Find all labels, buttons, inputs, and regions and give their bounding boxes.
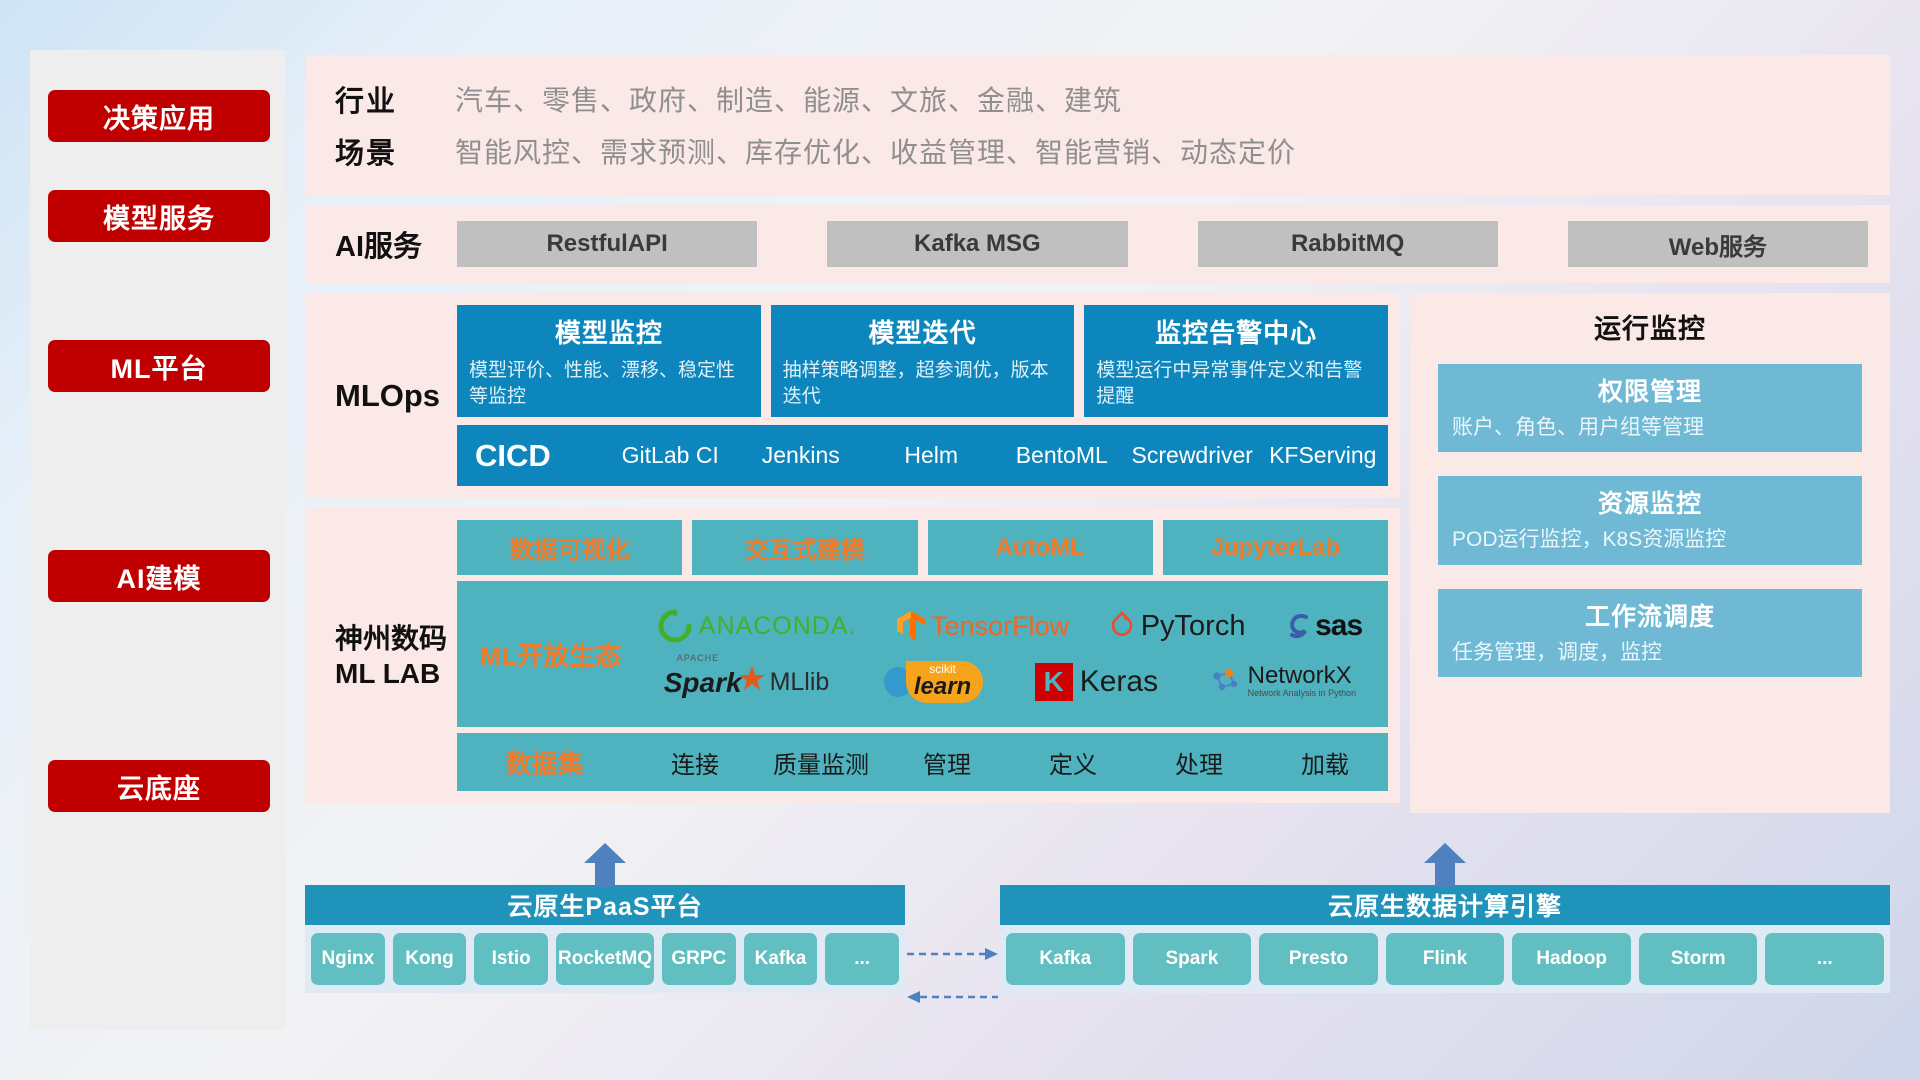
service-chip-web-service[interactable]: Web服务 <box>1568 221 1868 267</box>
keras-wordmark: Keras <box>1080 665 1158 699</box>
anaconda-icon <box>658 609 692 643</box>
cloud-paas-title: 云原生PaaS平台 <box>305 885 905 925</box>
runtime-monitor-title: 运行监控 <box>1438 307 1862 346</box>
cloud-data-engine-chip-list: Kafka Spark Presto Flink Hadoop Storm ..… <box>1000 925 1890 993</box>
mlops-card-list: 模型监控 模型评价、性能、漂移、稳定性等监控 模型迭代 抽样策略调整，超参调优，… <box>457 305 1388 417</box>
layer-chip-label: 模型服务 <box>103 197 215 236</box>
anaconda-wordmark: ANACONDA. <box>699 612 857 641</box>
mllib-wordmark: MLlib <box>770 668 830 697</box>
tensorflow-icon <box>896 609 926 643</box>
layer-rail: 决策应用 模型服务 ML平台 AI建模 云底座 <box>30 50 285 1030</box>
layer-chip-label: 决策应用 <box>103 97 215 136</box>
dataset-item-manage[interactable]: 管理 <box>884 745 1010 780</box>
cloud-chip-more[interactable]: ... <box>825 933 899 985</box>
anaconda-logo[interactable]: ANACONDA. <box>658 609 857 643</box>
mlops-content: 模型监控 模型评价、性能、漂移、稳定性等监控 模型迭代 抽样策略调整，超参调优，… <box>457 305 1388 486</box>
monitor-card-desc: 任务管理，调度，监控 <box>1452 639 1848 667</box>
monitor-card-title: 资源监控 <box>1452 484 1848 520</box>
monitor-card-title: 权限管理 <box>1452 372 1848 408</box>
mlops-card-model-monitoring[interactable]: 模型监控 模型评价、性能、漂移、稳定性等监控 <box>457 305 761 417</box>
cloud-chip-istio[interactable]: Istio <box>474 933 548 985</box>
engine-chip-more[interactable]: ... <box>1765 933 1884 985</box>
pytorch-logo[interactable]: PyTorch <box>1109 610 1246 643</box>
sas-logo[interactable]: sas <box>1285 609 1362 643</box>
mlops-card-desc: 模型运行中异常事件定义和告警提醒 <box>1096 358 1376 409</box>
arrow-left-dashed-icon <box>905 990 1000 1004</box>
ml-lab-label: 神州数码 ML LAB <box>335 520 457 791</box>
layer-chip-ml-platform[interactable]: ML平台 <box>48 340 270 392</box>
dataset-item-quality-monitor[interactable]: 质量监测 <box>758 745 884 780</box>
cicd-item-screwdriver[interactable]: Screwdriver <box>1127 444 1258 467</box>
platform-column: MLOps 模型监控 模型评价、性能、漂移、稳定性等监控 模型迭代 抽样策略调整… <box>305 293 1400 813</box>
layer-chip-cloud-base[interactable]: 云底座 <box>48 760 270 812</box>
mlops-label: MLOps <box>335 305 457 486</box>
pytorch-icon <box>1109 610 1135 642</box>
layer-chip-label: ML平台 <box>111 347 208 386</box>
cloud-chip-rocketmq[interactable]: RocketMQ <box>556 933 654 985</box>
mlops-card-title: 监控告警中心 <box>1096 313 1376 350</box>
cicd-item-jenkins[interactable]: Jenkins <box>736 444 867 467</box>
monitor-card-permission[interactable]: 权限管理 账户、角色、用户组等管理 <box>1438 364 1862 452</box>
cicd-item-gitlab-ci[interactable]: GitLab CI <box>605 444 736 467</box>
lab-tool-jupyterlab[interactable]: JupyterLab <box>1163 520 1388 575</box>
cloud-data-engine-title: 云原生数据计算引擎 <box>1000 885 1890 925</box>
ml-lab-content: 数据可视化 交互式建模 AutoML JupyterLab ML开放生态 <box>457 520 1388 791</box>
dataset-item-connect[interactable]: 连接 <box>632 745 758 780</box>
networkx-logo[interactable]: NetworkX Network Analysis in Python <box>1210 664 1357 700</box>
ai-service-band: AI服务 RestfulAPI Kafka MSG RabbitMQ Web服务 <box>305 205 1890 283</box>
cicd-item-list: GitLab CI Jenkins Helm BentoML Screwdriv… <box>605 444 1388 467</box>
ai-service-list: RestfulAPI Kafka MSG RabbitMQ Web服务 <box>457 221 1890 267</box>
sas-wordmark: sas <box>1315 609 1362 643</box>
cloud-chip-nginx[interactable]: Nginx <box>311 933 385 985</box>
industry-row: 行业 汽车、零售、政府、制造、能源、文旅、金融、建筑 <box>335 73 1890 125</box>
keras-k-glyph: K <box>1044 666 1064 698</box>
industry-value: 汽车、零售、政府、制造、能源、文旅、金融、建筑 <box>455 79 1122 119</box>
dataset-item-list: 连接 质量监测 管理 定义 处理 加载 <box>632 745 1388 780</box>
engine-chip-storm[interactable]: Storm <box>1639 933 1758 985</box>
scikit-learn-logo[interactable]: scikit learn <box>881 661 983 703</box>
layer-chip-label: AI建模 <box>117 557 202 596</box>
ml-lab-band: 神州数码 ML LAB 数据可视化 交互式建模 AutoML JupyterLa… <box>305 508 1400 803</box>
mlops-card-title: 模型迭代 <box>783 313 1063 350</box>
cloud-paas-chip-list: Nginx Kong Istio RocketMQ GRPC Kafka ... <box>305 925 905 993</box>
ml-lab-label-line1: 神州数码 <box>335 621 457 656</box>
ecosystem-logo-grid: ANACONDA. TensorFlow <box>638 600 1382 708</box>
keras-logo[interactable]: K Keras <box>1035 663 1158 701</box>
mlops-card-alert-center[interactable]: 监控告警中心 模型运行中异常事件定义和告警提醒 <box>1084 305 1388 417</box>
industry-key: 行业 <box>335 78 455 120</box>
platform-and-monitor-wrap: MLOps 模型监控 模型评价、性能、漂移、稳定性等监控 模型迭代 抽样策略调整… <box>305 293 1890 813</box>
mlops-card-desc: 抽样策略调整，超参调优，版本迭代 <box>783 358 1063 409</box>
cicd-item-helm[interactable]: Helm <box>866 444 997 467</box>
cicd-title: CICD <box>475 438 605 474</box>
dataset-item-load[interactable]: 加载 <box>1262 745 1388 780</box>
dataset-row: 数据集 连接 质量监测 管理 定义 处理 加载 <box>457 733 1388 791</box>
decision-apps-band: 行业 汽车、零售、政府、制造、能源、文旅、金融、建筑 场景 智能风控、需求预测、… <box>305 55 1890 195</box>
data-engine-up-arrow-icon <box>1422 843 1468 887</box>
monitor-card-resource[interactable]: 资源监控 POD运行监控，K8S资源监控 <box>1438 476 1862 564</box>
dataset-item-define[interactable]: 定义 <box>1010 745 1136 780</box>
ecosystem-logo-row-1: ANACONDA. TensorFlow <box>638 600 1382 652</box>
ml-open-ecosystem: ML开放生态 ANACONDA. <box>457 581 1388 727</box>
tensorflow-logo[interactable]: TensorFlow <box>896 609 1069 643</box>
runtime-monitor-sidebar: 运行监控 权限管理 账户、角色、用户组等管理 资源监控 POD运行监控，K8S资… <box>1410 293 1890 813</box>
paas-up-arrow-icon <box>582 843 628 887</box>
spark-star-icon <box>738 665 766 693</box>
spark-wordmark: Spark <box>664 667 742 699</box>
mlops-card-desc: 模型评价、性能、漂移、稳定性等监控 <box>469 358 749 409</box>
layer-chip-decision[interactable]: 决策应用 <box>48 90 270 142</box>
cloud-data-engine-column: 云原生数据计算引擎 Kafka Spark Presto Flink Hadoo… <box>1000 885 1890 1030</box>
monitor-card-desc: 账户、角色、用户组等管理 <box>1452 414 1848 442</box>
monitor-card-workflow[interactable]: 工作流调度 任务管理，调度，监控 <box>1438 589 1862 677</box>
scenario-row: 场景 智能风控、需求预测、库存优化、收益管理、智能营销、动态定价 <box>335 125 1890 177</box>
layer-chip-ai-modeling[interactable]: AI建模 <box>48 550 270 602</box>
architecture-main: 行业 汽车、零售、政府、制造、能源、文旅、金融、建筑 场景 智能风控、需求预测、… <box>305 55 1890 813</box>
sas-icon <box>1285 610 1313 642</box>
engine-chip-kafka[interactable]: Kafka <box>1006 933 1125 985</box>
tensorflow-wordmark: TensorFlow <box>931 611 1069 642</box>
networkx-wordmark: NetworkX <box>1248 664 1357 688</box>
scenario-key: 场景 <box>335 130 455 172</box>
service-chip-restfulapi[interactable]: RestfulAPI <box>457 221 757 267</box>
cicd-item-bentoml[interactable]: BentoML <box>997 444 1128 467</box>
engine-chip-presto[interactable]: Presto <box>1259 933 1378 985</box>
arrow-right-dashed-icon <box>905 947 1000 961</box>
spark-apache-label: APACHE <box>677 653 719 663</box>
ecosystem-logo-row-2: APACHE Spark MLlib <box>638 656 1382 708</box>
cicd-bar: CICD GitLab CI Jenkins Helm BentoML Scre… <box>457 425 1388 486</box>
dataset-item-process[interactable]: 处理 <box>1136 745 1262 780</box>
cloud-chip-grpc[interactable]: GRPC <box>662 933 736 985</box>
cicd-item-kfserving[interactable]: KFServing <box>1258 444 1389 467</box>
lab-tool-interactive-modeling[interactable]: 交互式建模 <box>692 520 917 575</box>
monitor-card-desc: POD运行监控，K8S资源监控 <box>1452 526 1848 554</box>
learn-label: learn <box>914 675 971 699</box>
layer-chip-model-service[interactable]: 模型服务 <box>48 190 270 242</box>
mlops-card-model-iteration[interactable]: 模型迭代 抽样策略调整，超参调优，版本迭代 <box>771 305 1075 417</box>
scenario-value: 智能风控、需求预测、库存优化、收益管理、智能营销、动态定价 <box>455 131 1296 171</box>
networkx-graph-icon <box>1210 667 1244 697</box>
cloud-link-gap <box>905 885 1000 1030</box>
ml-lab-tool-list: 数据可视化 交互式建模 AutoML JupyterLab <box>457 520 1388 575</box>
layer-chip-label: 云底座 <box>117 767 201 806</box>
pytorch-wordmark: PyTorch <box>1141 610 1246 643</box>
ml-lab-label-line2: ML LAB <box>335 656 457 691</box>
cloud-foundation-band: 云原生PaaS平台 Nginx Kong Istio RocketMQ GRPC… <box>305 885 1890 1030</box>
mlops-band: MLOps 模型监控 模型评价、性能、漂移、稳定性等监控 模型迭代 抽样策略调整… <box>305 293 1400 498</box>
engine-chip-spark[interactable]: Spark <box>1133 933 1252 985</box>
ai-service-label: AI服务 <box>335 223 457 265</box>
service-chip-kafka-msg[interactable]: Kafka MSG <box>827 221 1127 267</box>
engine-chip-flink[interactable]: Flink <box>1386 933 1505 985</box>
dataset-label: 数据集 <box>457 744 632 781</box>
spark-mllib-logo[interactable]: APACHE Spark MLlib <box>664 665 830 699</box>
monitor-card-title: 工作流调度 <box>1452 597 1848 633</box>
networkx-tagline: Network Analysis in Python <box>1248 688 1357 700</box>
cloud-chip-kafka[interactable]: Kafka <box>744 933 818 985</box>
lab-tool-data-visualization[interactable]: 数据可视化 <box>457 520 682 575</box>
cloud-chip-kong[interactable]: Kong <box>393 933 467 985</box>
ml-open-ecosystem-label: ML开放生态 <box>463 636 638 673</box>
mlops-card-title: 模型监控 <box>469 313 749 350</box>
lab-tool-automl[interactable]: AutoML <box>928 520 1153 575</box>
service-chip-rabbitmq[interactable]: RabbitMQ <box>1198 221 1498 267</box>
engine-chip-hadoop[interactable]: Hadoop <box>1512 933 1631 985</box>
cloud-paas-column: 云原生PaaS平台 Nginx Kong Istio RocketMQ GRPC… <box>305 885 905 1030</box>
